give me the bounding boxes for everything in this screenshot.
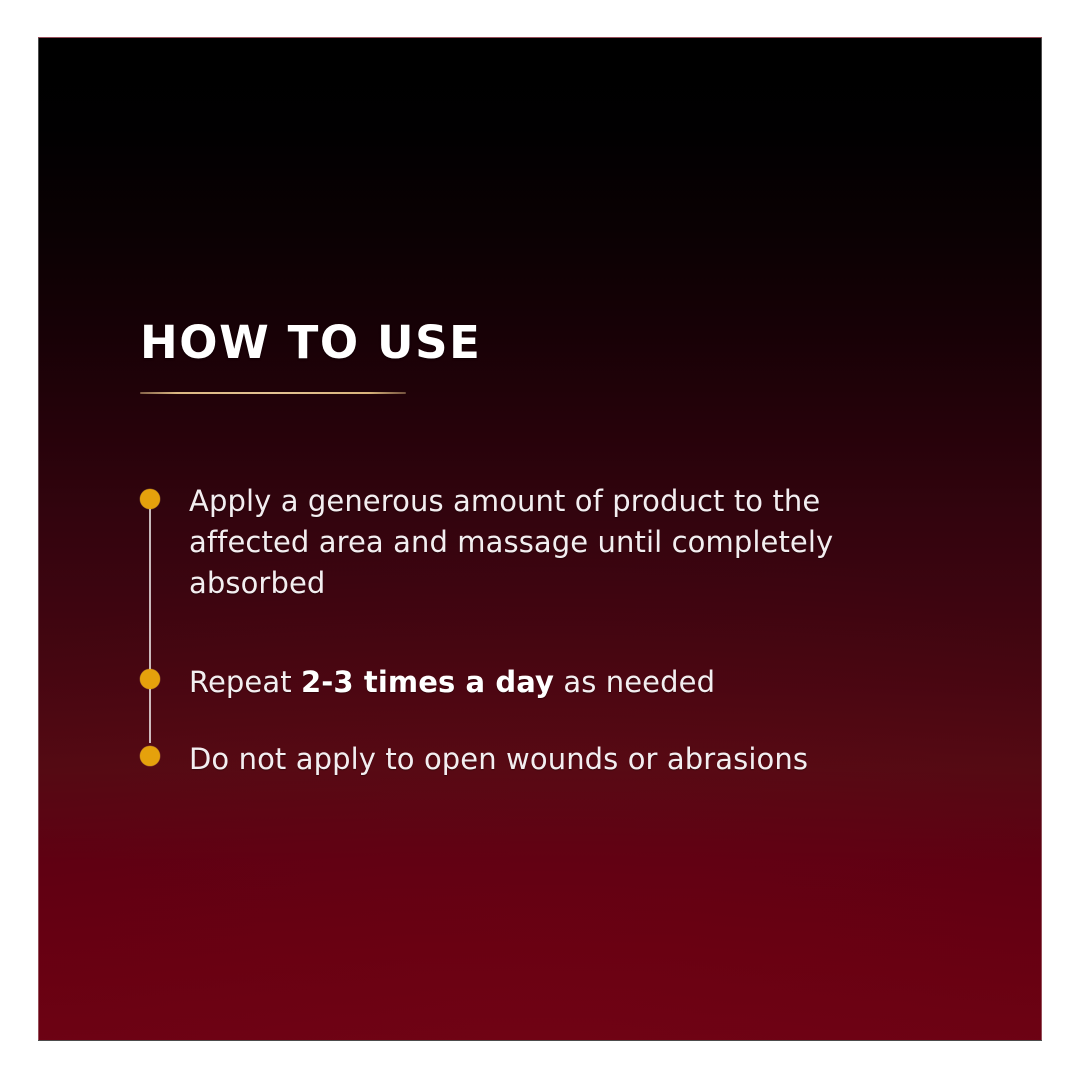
heading-block: HOW TO USE: [140, 319, 482, 394]
gold-dot-icon: [140, 489, 160, 509]
list-item-label: Do not apply to open wounds or abrasions: [189, 739, 808, 780]
list-item-emphasis: 2-3 times a day: [301, 665, 554, 699]
list-item-label: Repeat 2-3 times a day as needed: [189, 662, 715, 703]
list-item-text-tail: as needed: [554, 665, 715, 699]
list-item: Do not apply to open wounds or abrasions: [140, 739, 960, 780]
list-item: Apply a generous amount of product to th…: [140, 481, 960, 604]
list-item-label: Apply a generous amount of product to th…: [189, 481, 889, 604]
gold-dot-icon: [140, 669, 160, 689]
list-item: Repeat 2-3 times a day as needed: [140, 662, 960, 703]
steps-list: Apply a generous amount of product to th…: [140, 481, 960, 780]
list-item-text-lead: Repeat: [189, 665, 301, 699]
how-to-use-card: HOW TO USE Apply a generous amount of pr…: [38, 37, 1042, 1041]
title-underline-divider: [140, 392, 406, 394]
page-canvas: HOW TO USE Apply a generous amount of pr…: [0, 0, 1080, 1080]
page-title: HOW TO USE: [140, 319, 482, 366]
gold-dot-icon: [140, 746, 160, 766]
